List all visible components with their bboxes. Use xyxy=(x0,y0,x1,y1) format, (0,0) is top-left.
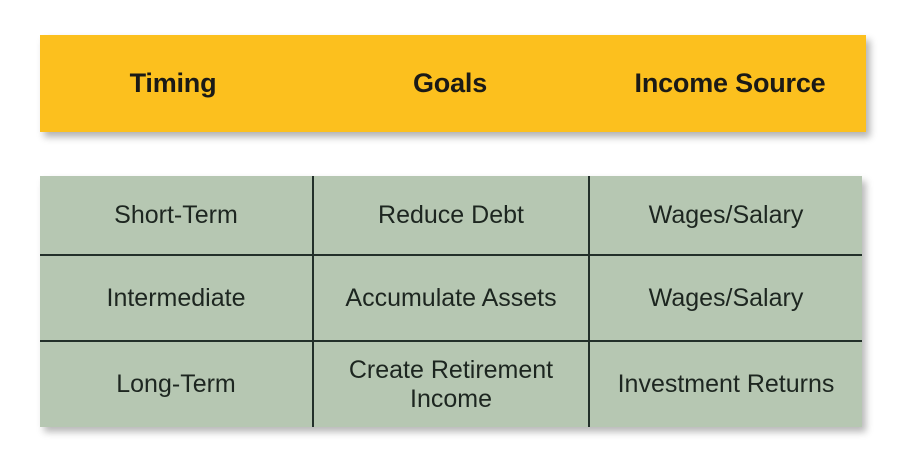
cell-timing: Short-Term xyxy=(40,176,313,255)
table-header-banner: Timing Goals Income Source xyxy=(40,35,866,132)
cell-income-source: Wages/Salary xyxy=(589,176,862,255)
cell-timing-text: Intermediate xyxy=(46,284,306,313)
column-header-goals: Goals xyxy=(306,35,594,132)
planning-data-table: Short-Term Reduce Debt Wages/Salary Inte… xyxy=(40,176,862,427)
table-row: Short-Term Reduce Debt Wages/Salary xyxy=(40,176,862,255)
column-header-timing: Timing xyxy=(40,35,306,132)
cell-income-source-text: Investment Returns xyxy=(596,370,856,399)
financial-planning-timing-figure: Timing Goals Income Source Short-Term Re… xyxy=(0,0,901,467)
column-header-timing-label: Timing xyxy=(130,68,217,99)
cell-income-source-text: Wages/Salary xyxy=(596,201,856,230)
cell-timing: Long-Term xyxy=(40,341,313,427)
column-header-income-source: Income Source xyxy=(594,35,866,132)
column-header-income-source-label: Income Source xyxy=(635,68,826,99)
cell-timing-text: Short-Term xyxy=(46,201,306,230)
cell-goals: Accumulate Assets xyxy=(313,255,589,341)
cell-income-source: Wages/Salary xyxy=(589,255,862,341)
cell-timing-text: Long-Term xyxy=(46,370,306,399)
cell-income-source-text: Wages/Salary xyxy=(596,284,856,313)
cell-goals-text: Accumulate Assets xyxy=(320,284,582,313)
column-header-goals-label: Goals xyxy=(413,68,487,99)
table-row: Intermediate Accumulate Assets Wages/Sal… xyxy=(40,255,862,341)
table-row: Long-Term Create Retirement Income Inves… xyxy=(40,341,862,427)
cell-income-source: Investment Returns xyxy=(589,341,862,427)
cell-timing: Intermediate xyxy=(40,255,313,341)
cell-goals: Reduce Debt xyxy=(313,176,589,255)
cell-goals-text: Create Retirement Income xyxy=(320,356,582,414)
cell-goals: Create Retirement Income xyxy=(313,341,589,427)
cell-goals-text: Reduce Debt xyxy=(320,201,582,230)
